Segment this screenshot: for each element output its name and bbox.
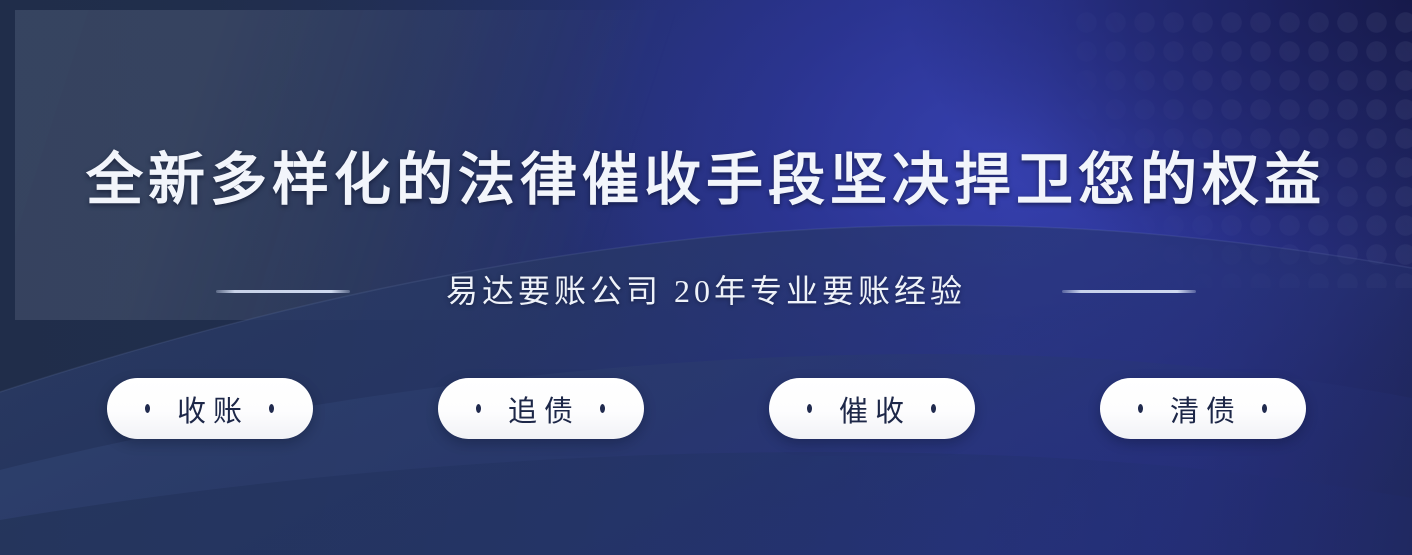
service-pill-label: 追债 [501,388,580,430]
bullet-dot-icon [476,404,481,413]
subtitle-text: 易达要账公司 20年专业要账经验 [446,268,966,314]
service-pill-qingzhai[interactable]: 清债 [1100,378,1306,439]
bullet-dot-icon [1138,404,1143,413]
bullet-dot-icon [600,404,605,413]
page-title: 全新多样化的法律催收手段坚决捍卫您的权益 [0,146,1412,216]
service-pill-label: 催收 [832,388,911,430]
bullet-dot-icon [931,404,936,413]
service-pill-zhuizhai[interactable]: 追债 [438,378,644,439]
divider-right [1062,290,1196,293]
bullet-dot-icon [145,404,150,413]
service-pill-row: 收账 追债 催收 清债 [0,378,1412,439]
service-pill-label: 清债 [1163,388,1242,430]
bullet-dot-icon [807,404,812,413]
service-pill-cuishou[interactable]: 催收 [769,378,975,439]
promo-banner: 全新多样化的法律催收手段坚决捍卫您的权益 易达要账公司 20年专业要账经验 收账… [0,0,1412,555]
service-pill-shouzhang[interactable]: 收账 [107,378,313,439]
service-pill-label: 收账 [170,388,249,430]
subtitle-row: 易达要账公司 20年专业要账经验 [0,268,1412,314]
divider-left [216,290,350,293]
bullet-dot-icon [1262,404,1267,413]
bullet-dot-icon [269,404,274,413]
